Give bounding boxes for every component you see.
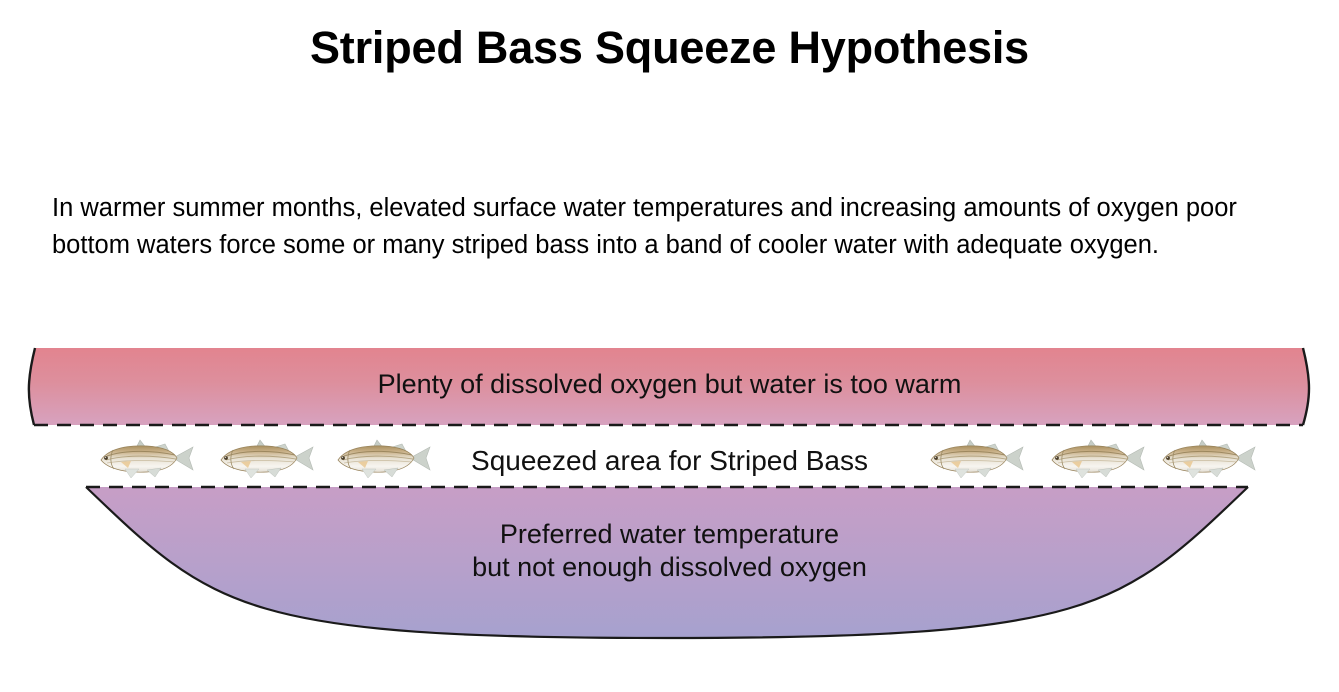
striped-bass-icon bbox=[1046, 437, 1150, 481]
striped-bass-squeeze-diagram: Plenty of dissolved oxygen but water is … bbox=[0, 330, 1339, 660]
striped-bass-fish bbox=[95, 437, 199, 481]
striped-bass-icon bbox=[1157, 437, 1261, 481]
striped-bass-icon bbox=[332, 437, 436, 481]
striped-bass-icon bbox=[95, 437, 199, 481]
bottom-layer-label-line1: Preferred water temperature bbox=[0, 518, 1339, 551]
striped-bass-icon bbox=[925, 437, 1029, 481]
bottom-layer-label-line2: but not enough dissolved oxygen bbox=[0, 551, 1339, 584]
slide-canvas: Striped Bass Squeeze Hypothesis In warme… bbox=[0, 0, 1339, 692]
striped-bass-icon bbox=[215, 437, 319, 481]
striped-bass-fish bbox=[1157, 437, 1261, 481]
striped-bass-fish bbox=[925, 437, 1029, 481]
surface-layer-label: Plenty of dissolved oxygen but water is … bbox=[0, 368, 1339, 401]
page-title: Striped Bass Squeeze Hypothesis bbox=[0, 22, 1339, 74]
intro-paragraph: In warmer summer months, elevated surfac… bbox=[52, 190, 1297, 264]
striped-bass-fish bbox=[332, 437, 436, 481]
bottom-layer-label: Preferred water temperature but not enou… bbox=[0, 518, 1339, 584]
striped-bass-fish bbox=[215, 437, 319, 481]
striped-bass-fish bbox=[1046, 437, 1150, 481]
